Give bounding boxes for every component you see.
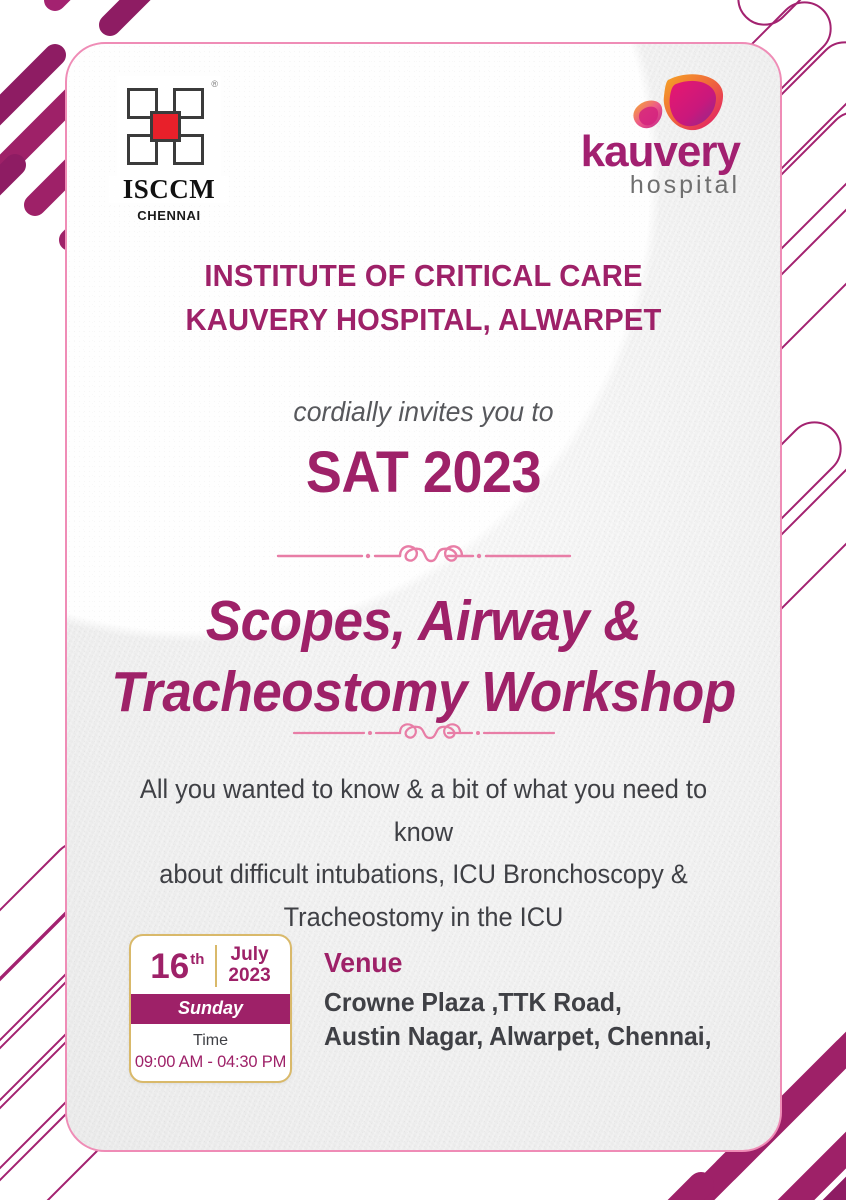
description-line-1: All you wanted to know & a bit of what y… — [111, 768, 736, 853]
date-month: July — [228, 945, 270, 966]
date-day-ordinal: th — [190, 952, 204, 967]
ornament-divider-top — [67, 539, 780, 573]
date-card-header: 16 th July 2023 — [131, 936, 290, 994]
isccm-logo: ® ISCCM CHENNAI — [109, 76, 229, 223]
workshop-title-line-1: Scopes, Airway & — [111, 586, 737, 657]
ornament-divider-bottom — [67, 716, 780, 750]
venue-address-line-2: Austin Nagar, Alwarpet, Chennai, — [324, 1019, 711, 1053]
isccm-cross-icon: ® — [117, 76, 221, 180]
date-day: 16 th — [150, 949, 204, 984]
organisation-heading: INSTITUTE OF CRITICAL CARE KAUVERY HOSPI… — [67, 254, 780, 342]
isccm-wordmark: ISCCM — [109, 176, 229, 203]
venue-block: Venue Crowne Plaza ,TTK Road, Austin Nag… — [324, 934, 732, 1053]
kauvery-hospital-logo: kauvery hospital — [540, 74, 740, 198]
event-code: SAT 2023 — [92, 439, 755, 506]
description-line-2: about difficult intubations, ICU Broncho… — [111, 853, 736, 896]
time-value: 09:00 AM - 04:30 PM — [133, 1051, 287, 1073]
venue-address-line-1: Crowne Plaza ,TTK Road, — [324, 985, 711, 1019]
workshop-description: All you wanted to know & a bit of what y… — [111, 768, 736, 939]
date-time-block: Time 09:00 AM - 04:30 PM — [131, 1024, 290, 1081]
date-card-divider — [215, 945, 217, 987]
organisation-line-2: KAUVERY HOSPITAL, ALWARPET — [88, 298, 758, 342]
organisation-line-1: INSTITUTE OF CRITICAL CARE — [88, 254, 758, 298]
date-card: 16 th July 2023 Sunday Time 09:00 AM - 0… — [129, 934, 292, 1083]
description-line-3: Tracheostomy in the ICU — [111, 896, 736, 939]
venue-label: Venue — [324, 946, 711, 980]
registered-trademark-icon: ® — [211, 79, 218, 89]
invite-text: cordially invites you to — [85, 396, 762, 428]
date-day-number: 16 — [150, 949, 189, 984]
venue-address: Crowne Plaza ,TTK Road, Austin Nagar, Al… — [324, 985, 711, 1054]
poster-card: ® ISCCM CHENNAI — [65, 42, 782, 1152]
kauvery-butterfly-icon — [540, 74, 740, 134]
kauvery-subtext: hospital — [540, 173, 740, 198]
date-weekday-band: Sunday — [131, 994, 290, 1024]
workshop-title: Scopes, Airway & Tracheostomy Workshop — [111, 586, 737, 729]
date-month-year: July 2023 — [228, 945, 270, 986]
isccm-chapter-label: CHENNAI — [109, 208, 229, 223]
date-year: 2023 — [228, 966, 270, 987]
event-details: 16 th July 2023 Sunday Time 09:00 AM - 0… — [129, 934, 740, 1083]
time-label: Time — [131, 1031, 290, 1050]
event-poster: ® ISCCM CHENNAI — [0, 0, 846, 1200]
